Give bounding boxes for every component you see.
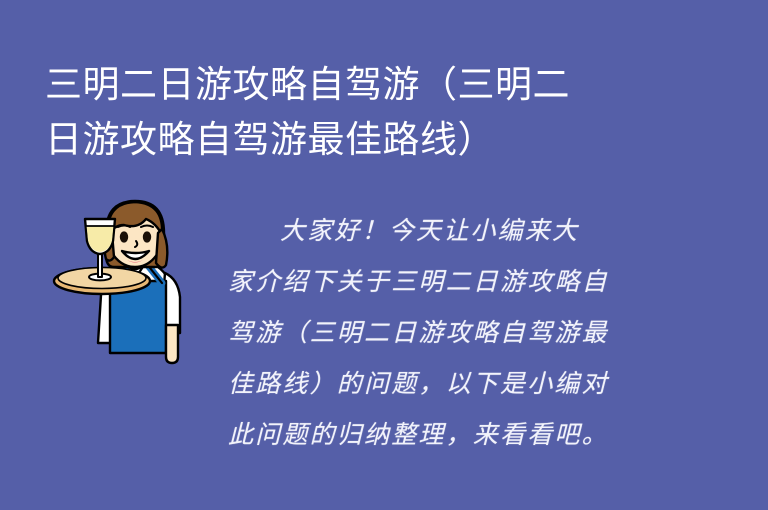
waitress-with-tray-icon (52, 193, 198, 383)
body-paragraph: 大家好！今天让小编来大 家介绍下关于三明二日游攻略自 驾游（三明二日游攻略自驾游… (228, 205, 640, 460)
body-line-1: 大家好！今天让小编来大 (228, 205, 640, 256)
body-line-3: 驾游（三明二日游攻略自驾游最 (228, 307, 640, 358)
waitress-eye-left (120, 231, 128, 242)
waitress-illustration (52, 193, 198, 383)
body-line-4: 佳路线）的问题，以下是小编对 (228, 358, 640, 409)
body-line-2: 家介绍下关于三明二日游攻略自 (228, 256, 640, 307)
wine-glass-stem (98, 253, 102, 277)
waitress-hair-lock-right (156, 229, 167, 268)
page-title: 三明二日游攻略自驾游（三明二 日游攻略自驾游最佳路线） (45, 57, 665, 167)
body-line-5: 此问题的归纳整理，来看看吧。 (228, 409, 640, 460)
poster-canvas: 三明二日游攻略自驾游（三明二 日游攻略自驾游最佳路线） (0, 0, 768, 510)
waitress-eye-right (143, 231, 151, 242)
title-line-1: 三明二日游攻略自驾游（三明二 (45, 57, 665, 112)
title-line-2: 日游攻略自驾游最佳路线） (45, 112, 665, 167)
waitress-right-hand (166, 325, 178, 363)
